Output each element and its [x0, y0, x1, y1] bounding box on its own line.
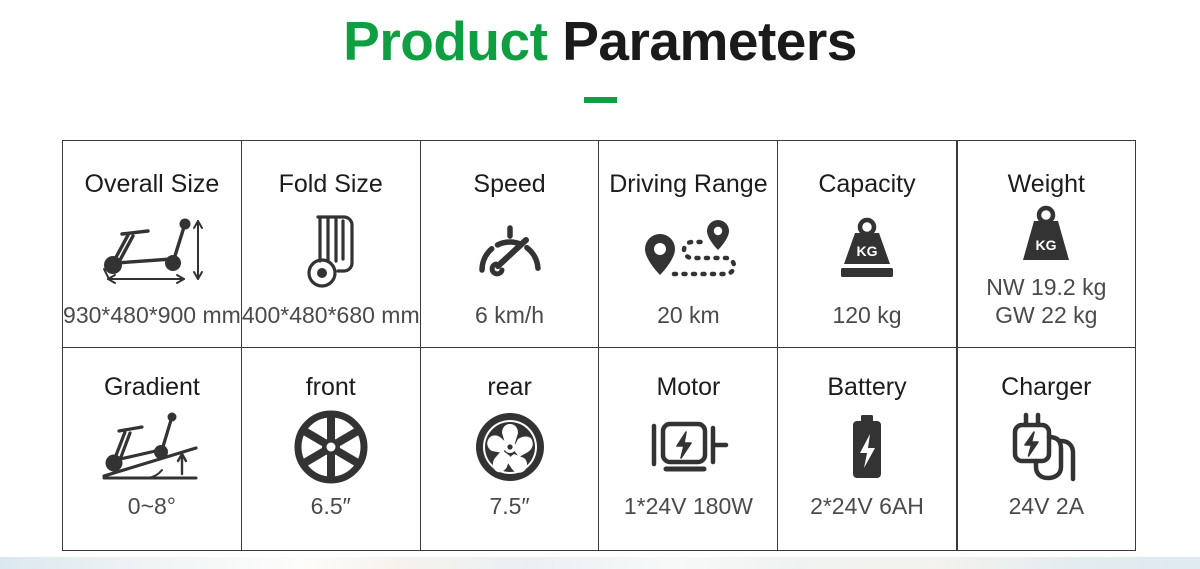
cell-label: Motor: [656, 372, 720, 402]
cell-value-line1: NW 19.2 kg: [986, 273, 1106, 301]
cell-rear-wheel: rear: [420, 348, 599, 551]
scooter-side-dimensions-icon: [86, 199, 218, 301]
cell-battery: Battery 2*24V 6AH: [778, 348, 957, 551]
cell-value: NW 19.2 kg GW 22 kg: [986, 273, 1106, 347]
page-title: Product Parameters: [0, 8, 1200, 74]
svg-text:KG: KG: [856, 243, 877, 259]
cell-gradient: Gradient: [63, 348, 242, 551]
cell-value: 400*480*680 mm: [242, 301, 420, 347]
cell-speed: Speed 6 km/h: [420, 141, 599, 348]
table-row: Gradient: [63, 348, 1136, 551]
cell-value: 1*24V 180W: [624, 492, 753, 550]
cell-label: front: [306, 372, 356, 402]
cell-label: Fold Size: [279, 169, 383, 199]
cell-label: Gradient: [104, 372, 200, 402]
cell-label: Capacity: [818, 169, 915, 199]
cell-label: Speed: [473, 169, 545, 199]
cell-capacity: Capacity KG 12: [778, 141, 957, 348]
cell-weight: Weight KG NW 19.2 kg GW 22 kg: [957, 141, 1136, 348]
svg-text:KG: KG: [1036, 237, 1057, 253]
next-banner-sliver: [0, 557, 1200, 569]
table-row: Overall Size: [63, 141, 1136, 348]
weight-on-platform-kg-icon: KG: [829, 199, 905, 301]
cell-fold-size: Fold Size: [241, 141, 420, 348]
product-parameters-page: Product Parameters Overall Size: [0, 0, 1200, 569]
front-wheel-six-spoke-icon: [294, 402, 368, 492]
title-underline-rule: [584, 97, 617, 103]
page-title-plain: Parameters: [562, 10, 857, 72]
cell-overall-size: Overall Size: [63, 141, 242, 348]
cell-value: 6 km/h: [475, 301, 544, 347]
cell-label: Driving Range: [609, 169, 767, 199]
cell-value: 2*24V 6AH: [810, 492, 924, 550]
cell-value: 930*480*900 mm: [63, 301, 241, 347]
cell-value: 7.5″: [490, 492, 530, 550]
cell-driving-range: Driving Range: [599, 141, 778, 348]
cell-value: 0~8°: [128, 492, 176, 550]
scooter-on-incline-icon: [92, 402, 212, 492]
cell-label: Weight: [1008, 169, 1085, 199]
cell-value: 120 kg: [832, 301, 901, 347]
folded-scooter-icon: [296, 199, 366, 301]
battery-bolt-icon: [842, 402, 892, 492]
route-map-pins-icon: [634, 199, 742, 301]
cell-charger: Charger: [957, 348, 1136, 551]
electric-motor-icon: [644, 402, 732, 492]
cell-label: Overall Size: [85, 169, 220, 199]
cell-value: 6.5″: [311, 492, 351, 550]
rear-wheel-alloy-tire-icon: [472, 402, 548, 492]
cell-value: 24V 2A: [1009, 492, 1084, 550]
specifications-table: Overall Size: [62, 140, 1136, 551]
cell-label: Charger: [1001, 372, 1091, 402]
cell-value-line2: GW 22 kg: [986, 301, 1106, 329]
page-title-accent: Product: [343, 10, 547, 72]
cell-motor: Motor: [599, 348, 778, 551]
weight-kg-icon: KG: [1013, 199, 1079, 273]
cell-value: 20 km: [657, 301, 720, 347]
charger-plug-cable-icon: [1005, 402, 1087, 492]
speedometer-icon: [470, 199, 550, 301]
cell-label: rear: [487, 372, 531, 402]
cell-label: Battery: [827, 372, 906, 402]
cell-front-wheel: front: [241, 348, 420, 551]
